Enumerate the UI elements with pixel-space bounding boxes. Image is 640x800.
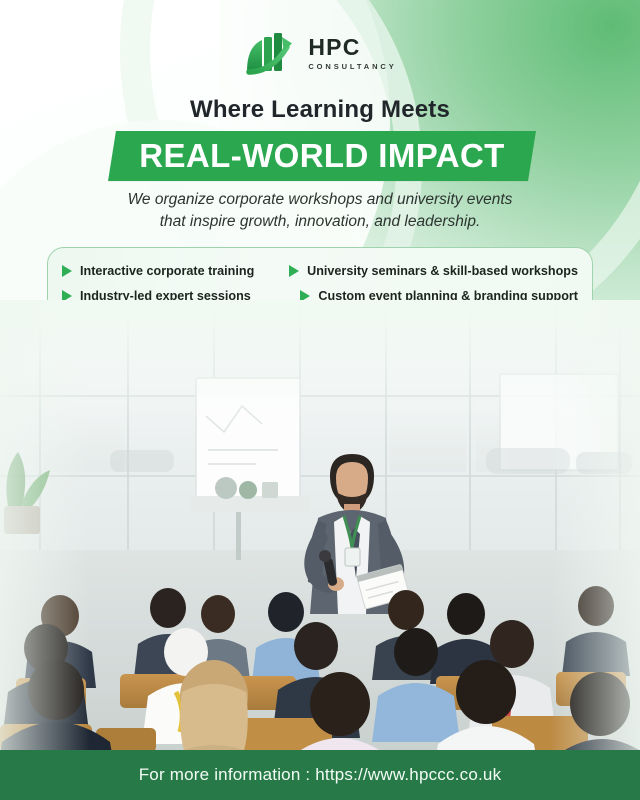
bar-chart-growth-arrow-icon	[243, 31, 299, 75]
brand-logo: HPC CONSULTANCY	[0, 31, 640, 75]
feature-item: University seminars & skill-based worksh…	[289, 264, 578, 278]
promotional-flyer: HPC CONSULTANCY Where Learning Meets REA…	[0, 0, 640, 800]
footer-bar: For more information : https://www.hpccc…	[0, 750, 640, 800]
brand-wordmark: HPC CONSULTANCY	[308, 36, 396, 71]
footer-contact-text[interactable]: For more information : https://www.hpccc…	[139, 765, 502, 785]
headline-kicker: Where Learning Meets	[0, 96, 640, 124]
brand-name: HPC	[308, 36, 396, 59]
feature-row: Interactive corporate training Universit…	[62, 264, 578, 278]
subtitle: We organize corporate workshops and univ…	[70, 189, 570, 234]
subtitle-line-2: that inspire growth, innovation, and lea…	[160, 213, 481, 230]
feature-label: University seminars & skill-based worksh…	[307, 264, 578, 278]
subtitle-line-1: We organize corporate workshops and univ…	[128, 191, 513, 208]
headline-banner-text: REAL-WORLD IMPACT	[112, 131, 532, 181]
triangle-arrow-bullet-icon	[62, 265, 72, 277]
feature-item: Interactive corporate training	[62, 264, 289, 278]
conference-photo-illustration	[0, 300, 640, 752]
triangle-arrow-bullet-icon	[289, 265, 299, 277]
brand-tagline: CONSULTANCY	[308, 63, 396, 71]
feature-label: Interactive corporate training	[80, 264, 254, 278]
conference-photo	[0, 300, 640, 752]
